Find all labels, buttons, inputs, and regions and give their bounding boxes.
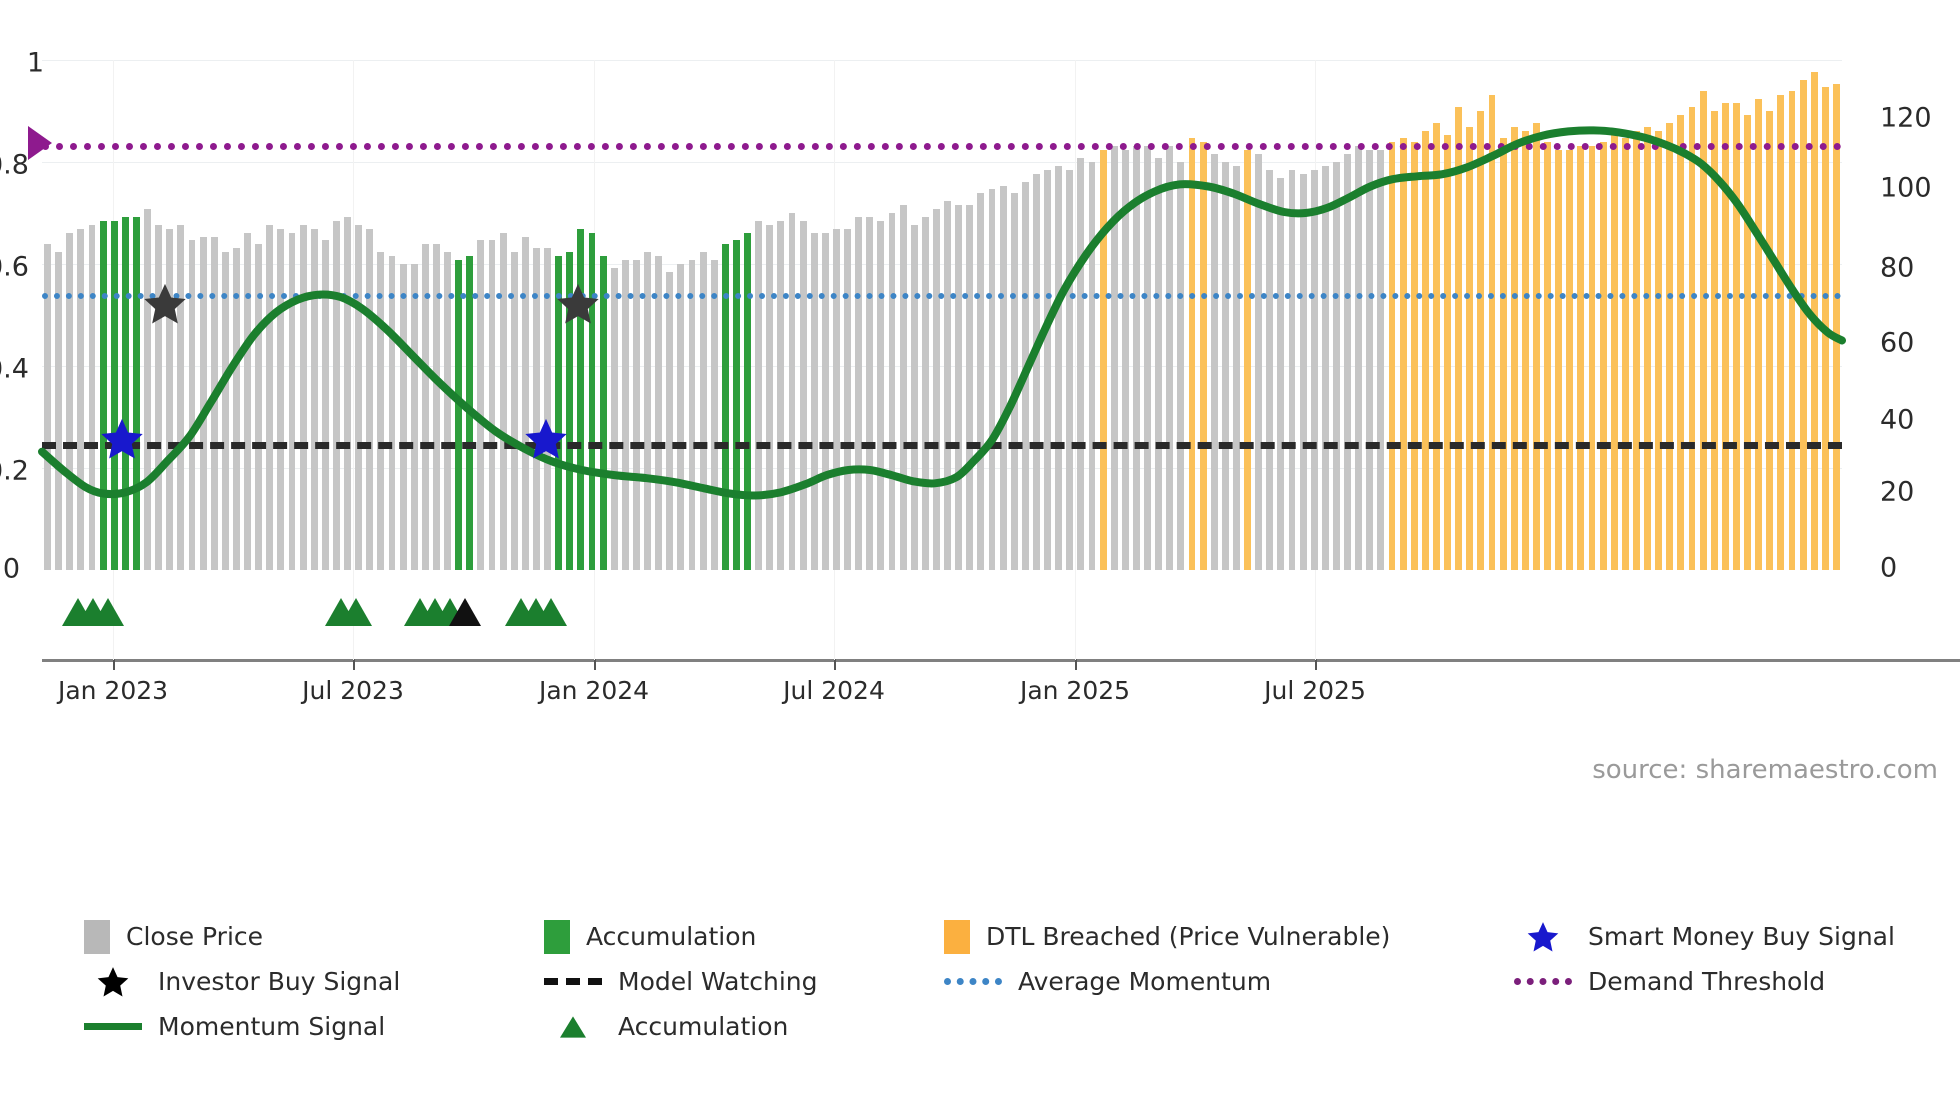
vertical-gridline-lower xyxy=(834,570,835,660)
accumulation-triangle-marker xyxy=(92,598,124,626)
close-price-swatch-icon xyxy=(84,920,110,954)
legend-label: Demand Threshold xyxy=(1588,967,1825,996)
legend-item-model-watching[interactable]: Model Watching xyxy=(544,967,944,996)
y-left-tick-0.4: 0.4 xyxy=(0,354,20,385)
legend-label: DTL Breached (Price Vulnerable) xyxy=(986,922,1390,951)
legend-label: Accumulation xyxy=(586,922,756,951)
x-tick-mark xyxy=(1315,659,1317,670)
legend-label: Close Price xyxy=(126,922,263,951)
legend-label: Model Watching xyxy=(618,967,818,996)
legend-item-accumulation-triangle[interactable]: Accumulation xyxy=(544,1012,944,1041)
x-tick-label: Jan 2024 xyxy=(539,676,649,705)
chart-legend: Close Price Accumulation DTL Breached (P… xyxy=(84,921,1934,1042)
accumulation-triangle-icon xyxy=(544,1014,602,1040)
legend-item-close-price[interactable]: Close Price xyxy=(84,920,544,954)
x-tick-mark xyxy=(1075,659,1077,670)
y-right-tick-60: 60 xyxy=(1880,328,1960,359)
demand-threshold-dot-icon xyxy=(1514,978,1572,985)
model-watching-dash-icon xyxy=(544,978,602,985)
legend-item-momentum-signal[interactable]: Momentum Signal xyxy=(84,1012,544,1041)
x-tick-mark xyxy=(113,659,115,670)
vertical-gridline-lower xyxy=(594,570,595,660)
smart-money-buy-star xyxy=(99,416,145,466)
momentum-signal-line-icon xyxy=(84,1023,142,1030)
source-note: source: sharemaestro.com xyxy=(1592,755,1938,785)
vertical-gridline-lower xyxy=(1315,570,1316,660)
smart-money-buy-star xyxy=(523,416,569,466)
legend-label: Momentum Signal xyxy=(158,1012,385,1041)
momentum-price-chart: 1 0.8 0.6 0.4 0.2 0 120 100 80 60 40 20 … xyxy=(0,0,1960,1102)
accumulation-swatch-icon xyxy=(544,920,570,954)
investor-buy-star xyxy=(555,281,601,331)
legend-label: Smart Money Buy Signal xyxy=(1588,922,1895,951)
legend-item-smart-money-buy[interactable]: Smart Money Buy Signal xyxy=(1514,920,1934,954)
x-tick-mark xyxy=(353,659,355,670)
legend-label: Investor Buy Signal xyxy=(158,967,400,996)
legend-item-dtl-breached[interactable]: DTL Breached (Price Vulnerable) xyxy=(944,920,1514,954)
x-axis-line xyxy=(42,659,1960,662)
y-right-tick-120: 120 xyxy=(1880,103,1960,134)
legend-item-investor-buy[interactable]: Investor Buy Signal xyxy=(84,965,544,999)
momentum-signal-path xyxy=(42,130,1842,495)
investor-buy-star xyxy=(142,281,188,331)
momentum-signal-line xyxy=(42,60,1842,570)
legend-label: Average Momentum xyxy=(1018,967,1271,996)
y-left-tick-0.8: 0.8 xyxy=(0,150,20,181)
smart-money-star-icon xyxy=(1514,920,1572,954)
y-right-tick-0: 0 xyxy=(1880,553,1960,584)
x-tick-label: Jan 2025 xyxy=(1020,676,1130,705)
y-left-tick-0.2: 0.2 xyxy=(0,456,20,487)
y-right-tick-100: 100 xyxy=(1880,173,1960,204)
accumulation-triangle-marker xyxy=(449,598,481,626)
legend-item-demand-threshold[interactable]: Demand Threshold xyxy=(1514,967,1934,996)
accumulation-triangle-marker xyxy=(340,598,372,626)
x-tick-label: Jul 2024 xyxy=(783,676,885,705)
x-tick-label: Jan 2023 xyxy=(58,676,168,705)
y-right-tick-40: 40 xyxy=(1880,405,1960,436)
plot-area xyxy=(42,60,1842,570)
x-tick-label: Jul 2023 xyxy=(302,676,404,705)
investor-buy-star-icon xyxy=(84,965,142,999)
y-left-tick-1: 1 xyxy=(10,48,44,79)
y-left-tick-0.6: 0.6 xyxy=(0,252,20,283)
y-right-tick-80: 80 xyxy=(1880,253,1960,284)
average-momentum-dot-icon xyxy=(944,978,1002,985)
y-left-tick-0: 0 xyxy=(0,554,20,585)
y-right-tick-20: 20 xyxy=(1880,477,1960,508)
legend-label: Accumulation xyxy=(618,1012,788,1041)
legend-item-accumulation-bar[interactable]: Accumulation xyxy=(544,920,944,954)
accumulation-triangle-marker xyxy=(535,598,567,626)
x-tick-mark xyxy=(594,659,596,670)
x-tick-mark xyxy=(834,659,836,670)
x-tick-label: Jul 2025 xyxy=(1264,676,1366,705)
dtl-breached-swatch-icon xyxy=(944,920,970,954)
legend-item-average-momentum[interactable]: Average Momentum xyxy=(944,967,1514,996)
vertical-gridline-lower xyxy=(1075,570,1076,660)
